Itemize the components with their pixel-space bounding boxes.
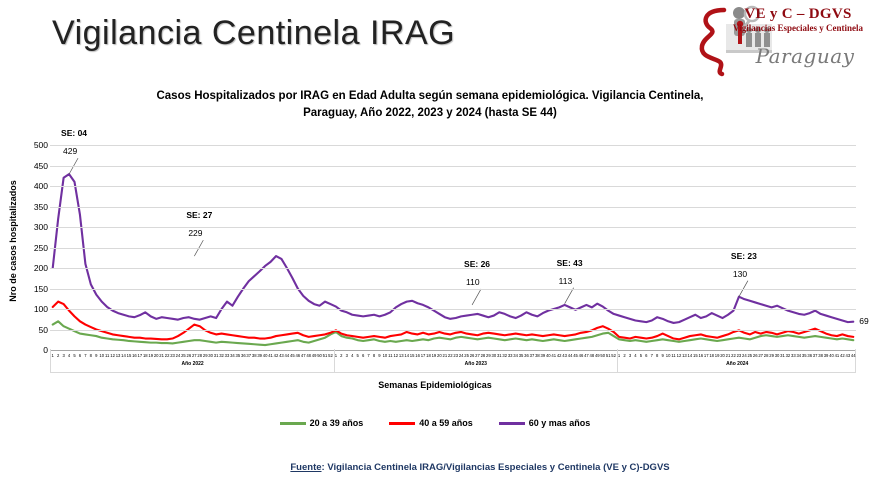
x-tick-label: 20 bbox=[154, 350, 159, 361]
x-tick-label: 2 bbox=[57, 350, 59, 361]
x-tick-label: 6 bbox=[645, 350, 647, 361]
x-tick-label: 44 bbox=[568, 350, 573, 361]
x-tick-label: 40 bbox=[546, 350, 551, 361]
x-tick-label: 52 bbox=[611, 350, 616, 361]
x-tick-label: 30 bbox=[492, 350, 497, 361]
x-tick-label: 5 bbox=[640, 350, 642, 361]
x-tick-label: 11 bbox=[388, 350, 392, 361]
x-tick-label: 32 bbox=[219, 350, 224, 361]
x-tick-label: 33 bbox=[508, 350, 513, 361]
x-tick-label: 34 bbox=[796, 350, 801, 361]
x-tick-label: 10 bbox=[666, 350, 671, 361]
x-tick-label: 38 bbox=[818, 350, 823, 361]
x-tick-label: 18 bbox=[709, 350, 714, 361]
x-tick-label: 3 bbox=[629, 350, 631, 361]
x-tick-label: 2 bbox=[623, 350, 625, 361]
x-tick-label: 32 bbox=[786, 350, 791, 361]
annotation-value: 113 bbox=[559, 276, 573, 286]
x-tick-label: 37 bbox=[530, 350, 535, 361]
x-tick-label: 41 bbox=[268, 350, 273, 361]
x-tick-label: 24 bbox=[742, 350, 747, 361]
x-tick-label: 12 bbox=[393, 350, 398, 361]
x-tick-label: 18 bbox=[143, 350, 148, 361]
y-tick-label: 0 bbox=[2, 345, 48, 355]
x-tick-label: 29 bbox=[486, 350, 491, 361]
legend-item[interactable]: 60 y mas años bbox=[499, 418, 591, 428]
x-tick-label: 30 bbox=[775, 350, 780, 361]
x-tick-label: 18 bbox=[426, 350, 431, 361]
x-tick-label: 17 bbox=[421, 350, 426, 361]
legend-label: 40 a 59 años bbox=[419, 418, 473, 428]
x-tick-label: 9 bbox=[95, 350, 97, 361]
x-tick-label: 42 bbox=[840, 350, 845, 361]
x-tick-label: 11 bbox=[105, 350, 109, 361]
x-tick-label: 5 bbox=[73, 350, 75, 361]
x-tick-label: 12 bbox=[110, 350, 115, 361]
annotation-value: 229 bbox=[188, 228, 202, 238]
x-tick-label: 4 bbox=[634, 350, 636, 361]
y-tick-label: 350 bbox=[2, 202, 48, 212]
x-tick-label: 31 bbox=[780, 350, 785, 361]
x-tick-label: 31 bbox=[214, 350, 219, 361]
footer-source-prefix: Fuente bbox=[290, 462, 321, 473]
x-tick-label: 35 bbox=[519, 350, 524, 361]
x-tick-label: 37 bbox=[246, 350, 251, 361]
x-tick-label: 45 bbox=[290, 350, 295, 361]
y-tick-label: 400 bbox=[2, 181, 48, 191]
x-tick-label: 28 bbox=[197, 350, 202, 361]
x-tick-label: 43 bbox=[845, 350, 850, 361]
gridline bbox=[50, 186, 856, 187]
y-tick-label: 300 bbox=[2, 222, 48, 232]
annotation-value: 130 bbox=[733, 269, 747, 279]
x-tick-label: 1 bbox=[335, 350, 337, 361]
x-tick-label: 4 bbox=[68, 350, 70, 361]
x-tick-label: 5 bbox=[357, 350, 359, 361]
legend-item[interactable]: 40 a 59 años bbox=[389, 418, 473, 428]
x-tick-label: 7 bbox=[84, 350, 86, 361]
y-tick-label: 100 bbox=[2, 304, 48, 314]
x-tick-label: 50 bbox=[317, 350, 322, 361]
x-tick-label: 14 bbox=[404, 350, 409, 361]
x-tick-label: 40 bbox=[829, 350, 834, 361]
x-axis-title: Semanas Epidemiológicas bbox=[0, 380, 870, 390]
x-tick-label: 8 bbox=[373, 350, 375, 361]
legend-swatch bbox=[280, 422, 306, 425]
y-tick-label: 200 bbox=[2, 263, 48, 273]
gridline bbox=[50, 309, 856, 310]
x-tick-label: 15 bbox=[127, 350, 132, 361]
chart-title: Casos Hospitalizados por IRAG en Edad Ad… bbox=[100, 88, 760, 122]
x-tick-label: 36 bbox=[241, 350, 246, 361]
x-tick-label: 1 bbox=[52, 350, 54, 361]
annotation-week-label: SE: 23 bbox=[731, 251, 757, 261]
x-tick-label: 34 bbox=[230, 350, 235, 361]
x-tick-label: 17 bbox=[138, 350, 143, 361]
x-tick-label: 46 bbox=[295, 350, 300, 361]
x-tick-label: 26 bbox=[187, 350, 192, 361]
x-tick-label: 39 bbox=[257, 350, 262, 361]
legend-item[interactable]: 20 a 39 años bbox=[280, 418, 364, 428]
x-tick-label: 39 bbox=[824, 350, 829, 361]
x-tick-label: 16 bbox=[415, 350, 420, 361]
logo: VE y C – DGVS Vigilancias Especiales y C… bbox=[686, 2, 864, 78]
x-tick-label: 51 bbox=[606, 350, 611, 361]
gridline bbox=[50, 330, 856, 331]
page-title: Vigilancia Centinela IRAG bbox=[52, 14, 455, 53]
x-tick-label: 25 bbox=[747, 350, 752, 361]
x-tick-label: 12 bbox=[677, 350, 682, 361]
x-tick-label: 41 bbox=[835, 350, 840, 361]
x-tick-label: 35 bbox=[802, 350, 807, 361]
logo-country: Paraguay bbox=[746, 44, 864, 68]
x-tick-label: 27 bbox=[192, 350, 197, 361]
x-tick-label: 19 bbox=[715, 350, 720, 361]
x-tick-label: 9 bbox=[661, 350, 663, 361]
x-tick-label: 16 bbox=[132, 350, 137, 361]
x-tick-label: 23 bbox=[737, 350, 742, 361]
x-tick-label: 7 bbox=[367, 350, 369, 361]
x-tick-label: 23 bbox=[453, 350, 458, 361]
x-tick-label: 17 bbox=[704, 350, 709, 361]
x-tick-label: 13 bbox=[682, 350, 687, 361]
x-tick-label: 21 bbox=[726, 350, 731, 361]
x-tick-label: 8 bbox=[90, 350, 92, 361]
annotation-leader-line bbox=[472, 289, 481, 305]
series-line-40-a-59-años bbox=[53, 302, 854, 340]
x-tick-label: 6 bbox=[362, 350, 364, 361]
x-tick-label: 43 bbox=[279, 350, 284, 361]
x-tick-label: 38 bbox=[535, 350, 540, 361]
x-tick-label: 10 bbox=[99, 350, 104, 361]
x-tick-label: 29 bbox=[203, 350, 208, 361]
x-tick-label: 51 bbox=[323, 350, 328, 361]
legend-swatch bbox=[499, 422, 525, 425]
x-tick-label: 44 bbox=[285, 350, 290, 361]
x-tick-label: 38 bbox=[252, 350, 257, 361]
x-axis-labels: 1234567891011121314151617181920212223242… bbox=[50, 350, 856, 362]
y-tick-label: 450 bbox=[2, 161, 48, 171]
x-tick-label: 23 bbox=[170, 350, 175, 361]
legend-swatch bbox=[389, 422, 415, 425]
x-tick-label: 15 bbox=[410, 350, 415, 361]
x-tick-label: 11 bbox=[671, 350, 675, 361]
y-tick-label: 500 bbox=[2, 140, 48, 150]
chart-legend: 20 a 39 años40 a 59 años60 y mas años bbox=[0, 418, 870, 428]
x-tick-label: 19 bbox=[148, 350, 153, 361]
x-tick-label: 43 bbox=[562, 350, 567, 361]
annotation-value: 69 bbox=[859, 316, 868, 326]
footer-source: Fuente: Vigilancia Centinela IRAG/Vigila… bbox=[0, 462, 870, 473]
x-tick-label: 22 bbox=[165, 350, 170, 361]
x-tick-label: 9 bbox=[378, 350, 380, 361]
x-tick-label: 14 bbox=[121, 350, 126, 361]
x-tick-label: 13 bbox=[116, 350, 121, 361]
x-tick-label: 20 bbox=[720, 350, 725, 361]
x-tick-label: 33 bbox=[225, 350, 230, 361]
x-tick-label: 33 bbox=[791, 350, 796, 361]
x-tick-label: 24 bbox=[459, 350, 464, 361]
x-tick-label: 48 bbox=[590, 350, 595, 361]
footer-source-text: : Vigilancia Centinela IRAG/Vigilancias … bbox=[322, 462, 670, 473]
x-tick-label: 10 bbox=[383, 350, 388, 361]
x-tick-label: 47 bbox=[584, 350, 589, 361]
x-tick-label: 27 bbox=[475, 350, 480, 361]
x-tick-label: 36 bbox=[524, 350, 529, 361]
x-tick-label: 39 bbox=[541, 350, 546, 361]
y-tick-label: 50 bbox=[2, 325, 48, 335]
chart-title-line2: Paraguay, Año 2022, 2023 y 2024 (hasta S… bbox=[303, 107, 557, 119]
logo-title: VE y C – DGVS bbox=[732, 6, 864, 23]
x-tick-label: 49 bbox=[595, 350, 600, 361]
x-tick-label: 6 bbox=[79, 350, 81, 361]
x-tick-label: 25 bbox=[464, 350, 469, 361]
x-tick-label: 29 bbox=[769, 350, 774, 361]
x-tick-label: 22 bbox=[731, 350, 736, 361]
x-tick-label: 30 bbox=[208, 350, 213, 361]
x-tick-label: 4 bbox=[351, 350, 353, 361]
legend-label: 60 y mas años bbox=[529, 418, 591, 428]
x-tick-label: 50 bbox=[600, 350, 605, 361]
x-tick-label: 3 bbox=[62, 350, 64, 361]
x-tick-label: 22 bbox=[448, 350, 453, 361]
annotation-week-label: SE: 27 bbox=[186, 210, 212, 220]
y-tick-label: 250 bbox=[2, 243, 48, 253]
x-tick-label: 13 bbox=[399, 350, 404, 361]
x-tick-label: 25 bbox=[181, 350, 186, 361]
chart: Nro de casos hospitalizados 050100150200… bbox=[0, 140, 870, 385]
series-line-60-y-mas-años bbox=[53, 174, 854, 323]
annotation-week-label: SE: 04 bbox=[61, 128, 87, 138]
x-tick-label: 7 bbox=[651, 350, 653, 361]
annotation-value: 110 bbox=[466, 277, 480, 287]
x-tick-label: 26 bbox=[753, 350, 758, 361]
x-tick-label: 48 bbox=[306, 350, 311, 361]
x-tick-label: 21 bbox=[159, 350, 164, 361]
logo-subtitle: Vigilancias Especiales y Centinela bbox=[732, 23, 864, 33]
y-tick-label: 150 bbox=[2, 284, 48, 294]
x-tick-label: 40 bbox=[263, 350, 268, 361]
x-tick-label: 16 bbox=[698, 350, 703, 361]
x-tick-label: 32 bbox=[502, 350, 507, 361]
annotation-week-label: SE: 43 bbox=[557, 258, 583, 268]
annotation-leader-line bbox=[565, 288, 574, 304]
x-tick-label: 42 bbox=[557, 350, 562, 361]
annotation-value: 429 bbox=[63, 146, 77, 156]
x-tick-label: 19 bbox=[432, 350, 437, 361]
x-tick-label: 26 bbox=[470, 350, 475, 361]
x-tick-label: 47 bbox=[301, 350, 306, 361]
x-tick-label: 28 bbox=[481, 350, 486, 361]
x-tick-label: 2 bbox=[340, 350, 342, 361]
x-tick-label: 21 bbox=[442, 350, 447, 361]
x-tick-label: 20 bbox=[437, 350, 442, 361]
x-tick-label: 49 bbox=[312, 350, 317, 361]
x-tick-label: 46 bbox=[579, 350, 584, 361]
x-tick-label: 28 bbox=[764, 350, 769, 361]
chart-title-line1: Casos Hospitalizados por IRAG en Edad Ad… bbox=[156, 90, 703, 102]
x-tick-label: 15 bbox=[693, 350, 698, 361]
x-tick-label: 52 bbox=[328, 350, 333, 361]
x-tick-label: 24 bbox=[176, 350, 181, 361]
gridline bbox=[50, 166, 856, 167]
x-tick-label: 44 bbox=[851, 350, 856, 361]
x-tick-label: 34 bbox=[513, 350, 518, 361]
gridline bbox=[50, 207, 856, 208]
y-axis-ticks: 050100150200250300350400450500 bbox=[0, 145, 48, 350]
plot-area bbox=[50, 145, 856, 350]
x-tick-label: 41 bbox=[551, 350, 556, 361]
x-tick-label: 14 bbox=[688, 350, 693, 361]
annotation-week-label: SE: 26 bbox=[464, 259, 490, 269]
gridline bbox=[50, 227, 856, 228]
x-tick-label: 3 bbox=[346, 350, 348, 361]
x-tick-label: 45 bbox=[573, 350, 578, 361]
legend-label: 20 a 39 años bbox=[310, 418, 364, 428]
gridline bbox=[50, 248, 856, 249]
gridline bbox=[50, 289, 856, 290]
x-tick-label: 35 bbox=[236, 350, 241, 361]
x-tick-label: 1 bbox=[618, 350, 620, 361]
x-tick-label: 8 bbox=[656, 350, 658, 361]
x-tick-label: 42 bbox=[274, 350, 279, 361]
x-tick-label: 31 bbox=[497, 350, 502, 361]
x-tick-label: 36 bbox=[807, 350, 812, 361]
x-tick-label: 27 bbox=[758, 350, 763, 361]
gridline bbox=[50, 145, 856, 146]
x-tick-label: 37 bbox=[813, 350, 818, 361]
